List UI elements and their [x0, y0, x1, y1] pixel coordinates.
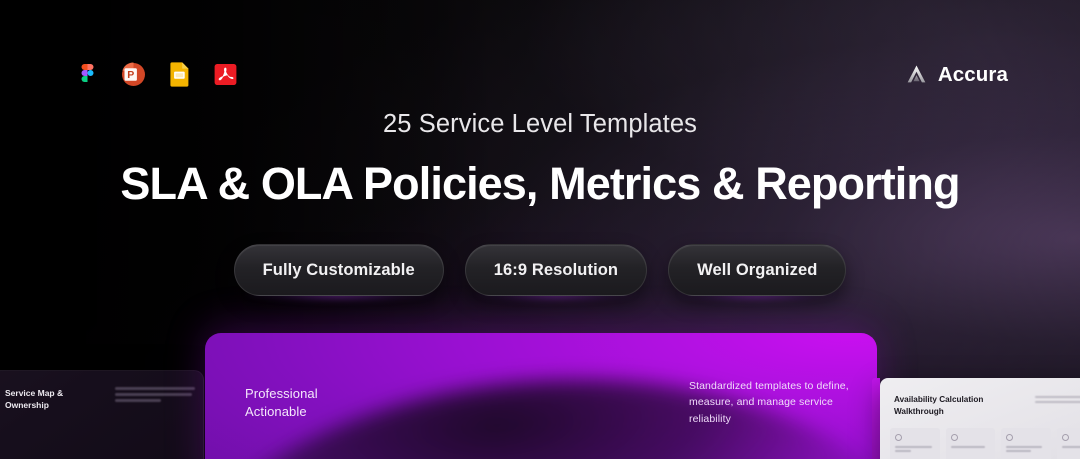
hero-card-keyword-1: Professional [245, 385, 318, 403]
page-title: SLA & OLA Policies, Metrics & Reporting [0, 158, 1080, 210]
circle-icon [1062, 434, 1069, 441]
figma-icon [74, 61, 101, 88]
preview-card-title: Availability Calculation Walkthrough [894, 394, 1004, 418]
tile [946, 428, 996, 459]
eyebrow-text: 25 Service Level Templates [0, 110, 1080, 139]
tile [890, 428, 940, 459]
brand-logo: Accura [904, 62, 1008, 87]
preview-card-tiles [890, 428, 1080, 459]
svg-text:P: P [127, 69, 134, 81]
pill-fully-customizable[interactable]: Fully Customizable [234, 244, 444, 296]
pill-label[interactable]: Fully Customizable [234, 244, 444, 296]
tile [1001, 428, 1051, 459]
preview-card-service-map[interactable]: Service Map & Ownership [0, 370, 204, 459]
pill-label[interactable]: 16:9 Resolution [465, 244, 647, 296]
preview-card-title: Service Map & Ownership [5, 387, 95, 412]
pill-label[interactable]: Well Organized [668, 244, 846, 296]
format-icons-group: P [74, 61, 239, 88]
pill-well-organized[interactable]: Well Organized [668, 244, 846, 296]
powerpoint-icon: P [120, 61, 147, 88]
hero-card-keywords: Professional Actionable [245, 385, 318, 420]
hero-card-description: Standardized templates to define, measur… [689, 378, 849, 427]
tile [1057, 428, 1080, 459]
brand-name: Accura [938, 63, 1008, 87]
preview-card-body-placeholder [1035, 396, 1080, 406]
circle-icon [951, 434, 958, 441]
feature-pills: Fully Customizable 16:9 Resolution Well … [0, 244, 1080, 296]
preview-card-availability[interactable]: Availability Calculation Walkthrough [880, 378, 1080, 459]
pill-resolution[interactable]: 16:9 Resolution [465, 244, 647, 296]
hero-card-keyword-2: Actionable [245, 403, 318, 421]
preview-card-edge-accent [872, 378, 880, 459]
preview-card-body-placeholder [115, 387, 195, 405]
triangle-a-logo-icon [904, 62, 929, 87]
google-slides-icon [166, 61, 193, 88]
hero-feature-card[interactable]: Professional Actionable Standardized tem… [205, 333, 877, 459]
circle-icon [895, 434, 902, 441]
circle-icon [1006, 434, 1013, 441]
pdf-icon [212, 61, 239, 88]
slide-canvas: P [0, 0, 1080, 459]
